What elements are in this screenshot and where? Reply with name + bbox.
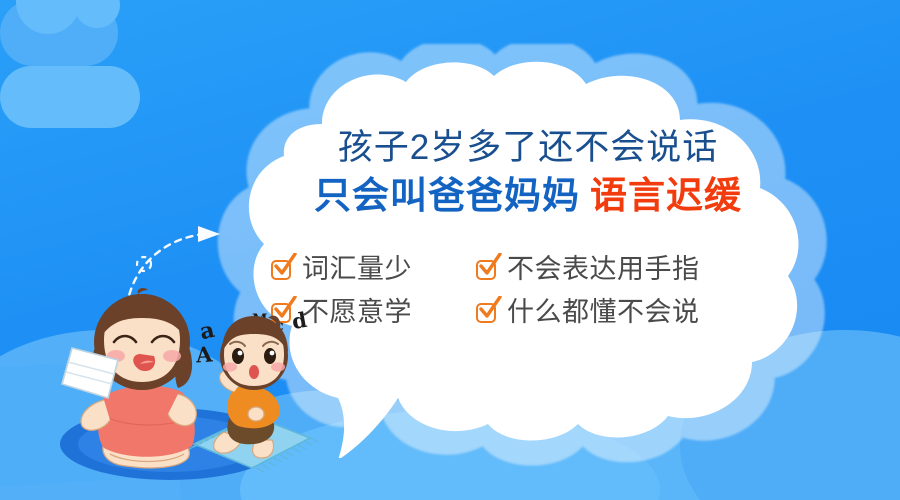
checklist-label: 词汇量少 [302,254,412,284]
checklist-label: 什么都懂不会说 [507,297,700,327]
checklist-item: 什么都懂不会说 [475,297,775,327]
checklist-row: 词汇量少 不会表达用手指 [270,254,780,284]
check-icon [270,257,295,282]
headline-line-2: 只会叫爸爸妈妈语言迟缓 [268,172,788,220]
checklist-label: 不会表达用手指 [507,254,700,284]
checklist-item: 不会表达用手指 [475,254,775,284]
headline-line-1: 孩子2岁多了还不会说话 [268,126,788,170]
check-icon [475,300,500,325]
check-icon [475,257,500,282]
poster-canvas: 孩子2岁多了还不会说话 只会叫爸爸妈妈语言迟缓 词汇量少 [0,0,900,500]
headline-block: 孩子2岁多了还不会说话 只会叫爸爸妈妈语言迟缓 [268,126,788,220]
mother-figure [62,288,196,468]
cloud-left [0,66,140,128]
illustration-mother-and-child [48,288,358,488]
headline-line-2-blue: 只会叫爸爸妈妈 [314,175,580,216]
characters-art [48,288,358,488]
headline-line-2-red: 语言迟缓 [590,175,742,216]
checklist-item: 词汇量少 [270,254,475,284]
